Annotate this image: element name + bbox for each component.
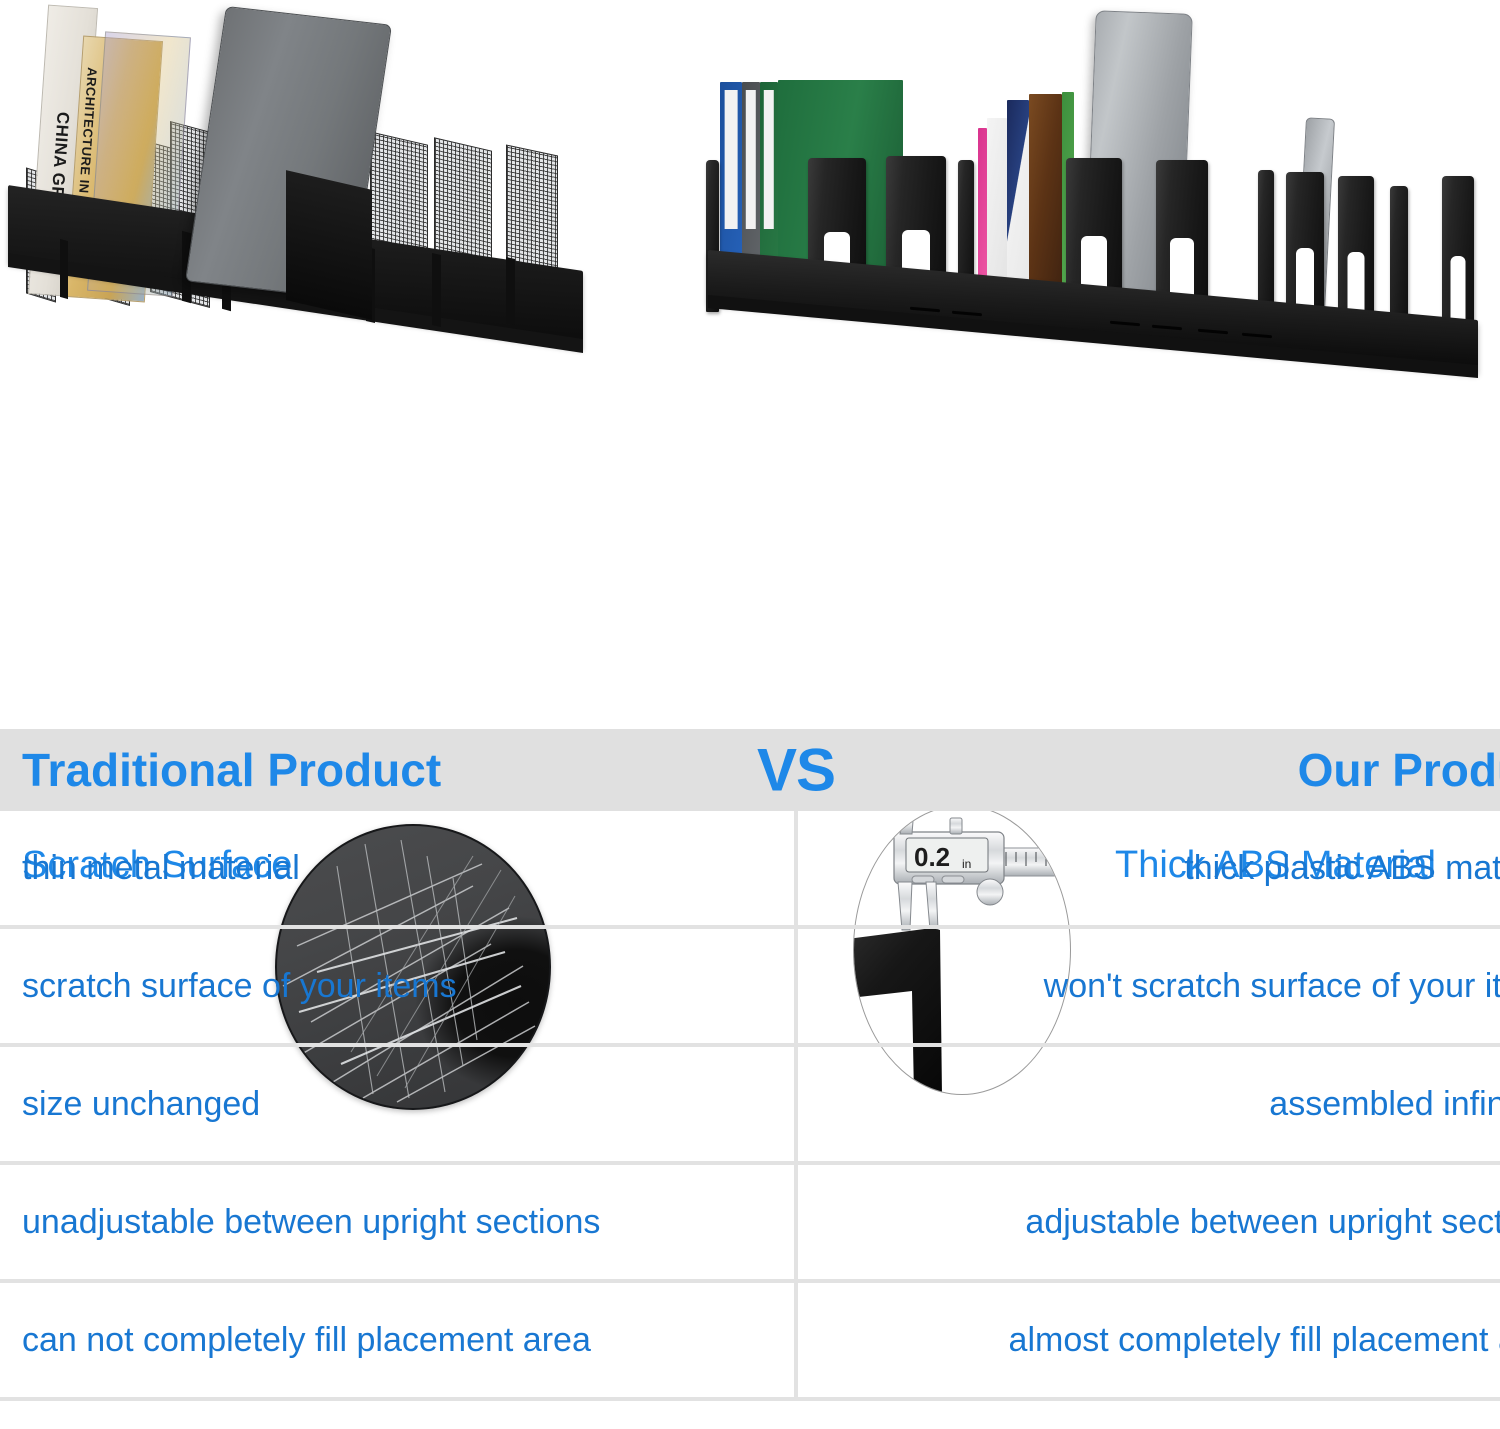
table-row: size unchanged assembled infinitely (0, 1045, 1500, 1163)
comparison-table: Traditional Product VS Our Product thin … (0, 729, 1500, 1401)
slot-wall (60, 239, 68, 299)
binder-label-strip (764, 90, 774, 229)
slot-wall (432, 253, 441, 327)
cell-traditional-3: unadjustable between upright sections (0, 1163, 796, 1281)
table-row: unadjustable between upright sections ad… (0, 1163, 1500, 1281)
magazine-wood-cover (1029, 94, 1062, 308)
cell-our-1: won't scratch surface of your items (796, 927, 1500, 1045)
laptop-slot-shadow (286, 170, 372, 320)
cell-traditional-2: size unchanged (0, 1045, 796, 1163)
cell-traditional-0: thin metal material (0, 811, 796, 927)
product-photo-area: CHINA GREEN ARCHITECTURE IN THE PAST (0, 0, 1500, 400)
binder-label-strip (746, 90, 756, 229)
comparison-table-body: thin metal material thick plastic ABS ma… (0, 811, 1500, 1399)
cell-our-2: assembled infinitely (796, 1045, 1500, 1163)
cell-our-0: thick plastic ABS material (796, 811, 1500, 927)
table-row: thin metal material thick plastic ABS ma… (0, 811, 1500, 927)
binder-label-strip (725, 90, 738, 229)
traditional-product-photo: CHINA GREEN ARCHITECTURE IN THE PAST (0, 0, 620, 400)
header-traditional-product: Traditional Product (0, 729, 796, 811)
table-row: scratch surface of your items won't scra… (0, 927, 1500, 1045)
header-our-product: Our Product (796, 729, 1500, 811)
cell-traditional-1: scratch surface of your items (0, 927, 796, 1045)
table-row: can not completely fill placement area a… (0, 1281, 1500, 1399)
comparison-table-header-row: Traditional Product VS Our Product (0, 729, 1500, 811)
cell-traditional-4: can not completely fill placement area (0, 1281, 796, 1399)
vs-badge: VS (757, 736, 835, 805)
slot-wall (506, 257, 515, 325)
cell-our-3: adjustable between upright sections (796, 1163, 1500, 1281)
feature-callout-row: Scratch Surface (0, 400, 1500, 720)
our-product-photo (690, 0, 1500, 400)
cell-our-4: almost completely fill placement area (796, 1281, 1500, 1399)
